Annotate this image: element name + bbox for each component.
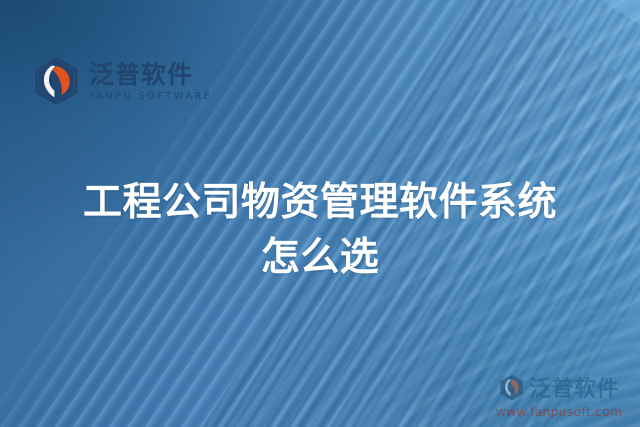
- brand-name-cn: 泛普软件: [89, 62, 212, 88]
- watermark-logo-row: 泛普软件: [486, 371, 632, 403]
- fanpu-hexagon-leaf-logo-icon: [33, 56, 79, 106]
- brand-name-en: FANPU SOFTWARE: [89, 92, 212, 102]
- watermark: 泛普软件 www.fanpusoft.com: [486, 371, 632, 419]
- watermark-url: www.fanpusoft.com: [486, 404, 632, 419]
- brand-logo[interactable]: 泛普软件 FANPU SOFTWARE: [33, 56, 212, 106]
- watermark-name-cn: 泛普软件: [529, 371, 619, 403]
- banner-canvas: 泛普软件 FANPU SOFTWARE 工程公司物资管理软件系统 怎么选 泛普软…: [0, 0, 640, 427]
- page-title: 工程公司物资管理软件系统 怎么选: [0, 175, 640, 285]
- page-title-line-2: 怎么选: [0, 230, 640, 285]
- page-title-line-1: 工程公司物资管理软件系统: [0, 175, 640, 230]
- fanpu-hexagon-leaf-logo-icon: [499, 374, 524, 401]
- brand-wordmark: 泛普软件 FANPU SOFTWARE: [89, 60, 212, 102]
